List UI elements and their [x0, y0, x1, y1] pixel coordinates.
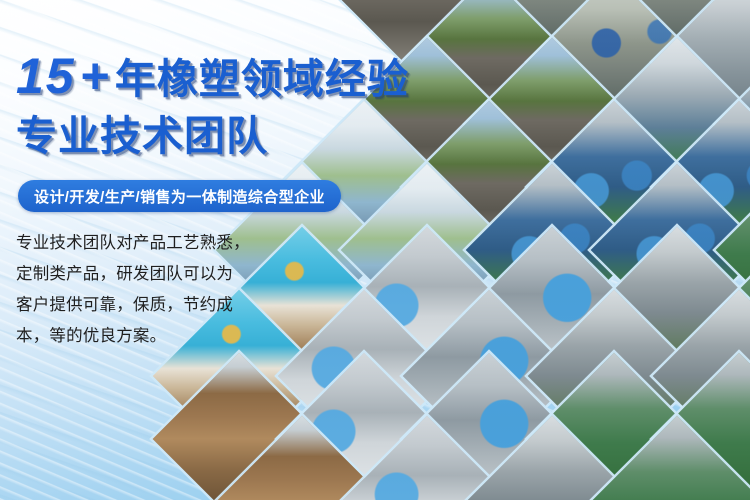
headline-line-2: 专业技术团队	[16, 112, 268, 160]
collage-tile-assembly-a	[528, 101, 701, 274]
collage-tile-warehouse-b	[653, 0, 750, 148]
collage-tile-machines-b	[591, 0, 750, 85]
headline-line-1-text: 年橡塑领域经验	[115, 56, 409, 102]
plus-sign: +	[80, 48, 115, 104]
collage-tile-moulding-c	[653, 290, 750, 463]
tagline-pill: 设计/开发/生产/销售为一体制造综合型企业	[18, 180, 341, 212]
tagline-pill-label: 设计/开发/生产/销售为一体制造综合型企业	[34, 186, 325, 207]
headline-line-1: 15+年橡塑领域经验	[16, 52, 409, 103]
collage-tile-machines-c	[528, 0, 701, 148]
collage-tile-assembly-d	[591, 164, 750, 337]
collage-tile-assembly-c	[466, 164, 639, 337]
collage-tile-moulding-d	[466, 416, 639, 500]
years-number: 15	[16, 48, 80, 104]
collage-tile-warehouse-a	[716, 0, 750, 85]
collage-tile-assembly-b	[653, 101, 750, 274]
collage-tile-conveyor-c	[528, 353, 701, 500]
promo-banner: 15+年橡塑领域经验 专业技术团队 设计/开发/生产/销售为一体制造综合型企业 …	[0, 0, 750, 500]
collage-tile-moulding-b	[528, 290, 701, 463]
banner-text-block: 15+年橡塑领域经验 专业技术团队 设计/开发/生产/销售为一体制造综合型企业 …	[0, 0, 470, 500]
body-copy-line-2: 定制类产品，研发团队可以为	[16, 259, 278, 290]
collage-tile-lab-b	[716, 38, 750, 211]
collage-tile-machines-a	[466, 0, 639, 85]
body-copy-line-4: 本，等的优良方案。	[16, 321, 278, 352]
collage-tile-terminal-a	[466, 227, 639, 400]
body-copy-line-1: 专业技术团队对产品工艺熟悉，	[16, 228, 278, 259]
collage-tile-conveyor-b	[716, 227, 750, 400]
body-copy-line-3: 客户提供可靠，保质，节约成	[16, 290, 278, 321]
collage-tile-conveyor-e	[591, 416, 750, 500]
body-copy: 专业技术团队对产品工艺熟悉， 定制类产品，研发团队可以为 客户提供可靠，保质，节…	[16, 228, 278, 352]
collage-tile-conveyor-a	[716, 164, 750, 337]
collage-tile-moulding-a	[591, 227, 750, 400]
collage-tile-lineup-d	[466, 38, 639, 211]
collage-tile-conveyor-d	[653, 353, 750, 500]
collage-tile-lab-a	[591, 38, 750, 211]
